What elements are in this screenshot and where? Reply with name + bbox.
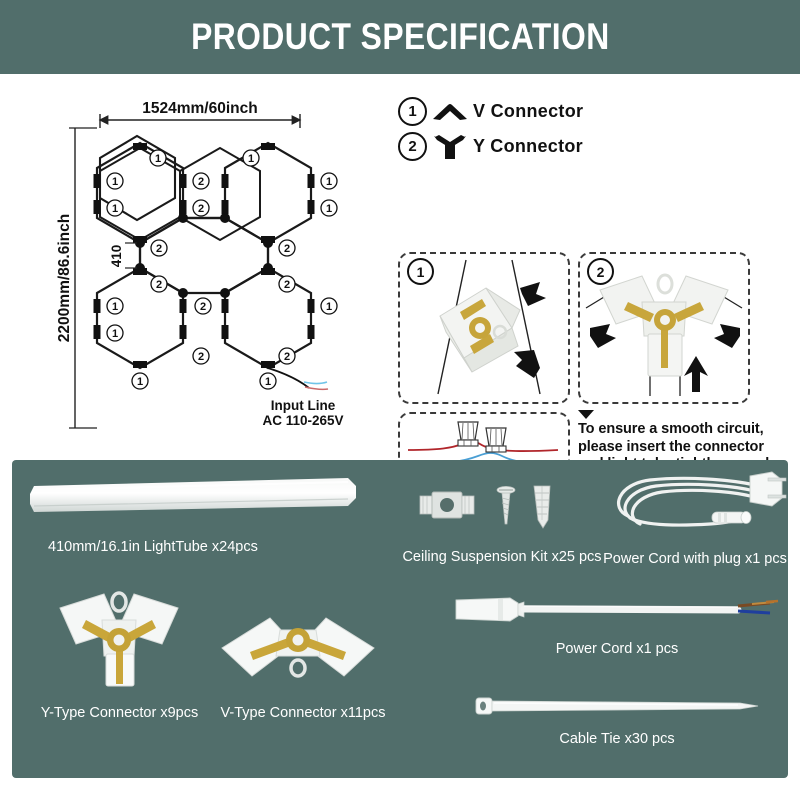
hexagon-layout-diagram: 1524mm/60inch 2200mm/86.6inch bbox=[55, 88, 385, 448]
page-title: PRODUCT SPECIFICATION bbox=[191, 16, 610, 58]
panel-number-1: 1 bbox=[407, 258, 434, 285]
svg-text:1: 1 bbox=[155, 153, 161, 165]
ceiling-suspension-kit-icon bbox=[402, 474, 602, 534]
svg-text:2: 2 bbox=[156, 243, 162, 255]
part-power-cord: Power Cord x1 pcs bbox=[452, 590, 782, 657]
caret-down-icon bbox=[578, 410, 594, 419]
segment-dimension: 410 bbox=[109, 243, 137, 268]
input-line-voltage: AC 110-265V bbox=[262, 413, 343, 428]
hexagon-diagram-svg: 1524mm/60inch 2200mm/86.6inch bbox=[55, 88, 385, 448]
svg-text:2: 2 bbox=[284, 243, 290, 255]
y-connector-icon bbox=[427, 134, 473, 160]
input-line-wire bbox=[268, 368, 328, 389]
svg-text:1: 1 bbox=[326, 176, 332, 188]
header-band: PRODUCT SPECIFICATION bbox=[0, 0, 800, 74]
specification-area: 1524mm/60inch 2200mm/86.6inch bbox=[0, 74, 800, 452]
v-type-connector-icon bbox=[208, 600, 398, 692]
y-connector-panel: 2 bbox=[578, 252, 750, 404]
svg-text:2: 2 bbox=[198, 203, 204, 215]
svg-text:2: 2 bbox=[198, 176, 204, 188]
svg-text:1: 1 bbox=[112, 203, 118, 215]
light-tube-icon bbox=[30, 474, 360, 518]
power-cord-icon bbox=[452, 590, 782, 630]
svg-text:2: 2 bbox=[156, 279, 162, 291]
part-light-tube: 410mm/16.1in LightTube x24pcs bbox=[30, 474, 360, 555]
legend-number-1: 1 bbox=[398, 97, 427, 126]
svg-text:1: 1 bbox=[112, 328, 118, 340]
power-cord-with-plug-icon bbox=[600, 468, 790, 540]
v-connector-panel: 1 bbox=[398, 252, 570, 404]
v-connector-icon bbox=[427, 101, 473, 123]
segment-length-label: 410 bbox=[109, 245, 124, 268]
part-label-v-type-connector: V-Type Connector x11pcs bbox=[208, 705, 398, 721]
part-label-cable-tie: Cable Tie x30 pcs bbox=[452, 731, 782, 747]
part-y-type-connector: Y-Type Connector x9pcs bbox=[32, 582, 207, 721]
part-label-power-cord: Power Cord x1 pcs bbox=[452, 641, 782, 657]
svg-text:2: 2 bbox=[284, 351, 290, 363]
part-v-type-connector: V-Type Connector x11pcs bbox=[208, 600, 398, 721]
y-type-connector-icon bbox=[32, 582, 207, 692]
svg-text:1: 1 bbox=[326, 301, 332, 313]
part-label-ceiling-suspension-kit: Ceiling Suspension Kit x25 pcs bbox=[402, 549, 602, 565]
part-label-light-tube: 410mm/16.1in LightTube x24pcs bbox=[30, 539, 360, 555]
legend-label-v-connector: V Connector bbox=[473, 101, 583, 122]
svg-text:2: 2 bbox=[284, 279, 290, 291]
svg-text:1: 1 bbox=[248, 153, 254, 165]
svg-text:2: 2 bbox=[198, 351, 204, 363]
legend-label-y-connector: Y Connector bbox=[473, 136, 583, 157]
part-label-power-cord-with-plug: Power Cord with plug x1 pcs bbox=[600, 551, 790, 567]
legend-item-y-connector: 2 Y Connector bbox=[398, 129, 698, 164]
svg-text:1: 1 bbox=[112, 301, 118, 313]
width-dimension-label: 1524mm/60inch bbox=[142, 100, 257, 117]
legend-number-2: 2 bbox=[398, 132, 427, 161]
part-power-cord-with-plug: Power Cord with plug x1 pcs bbox=[600, 468, 790, 567]
legend-item-v-connector: 1 V Connector bbox=[398, 94, 698, 129]
parts-list-area: 410mm/16.1in LightTube x24pcs bbox=[12, 460, 788, 778]
part-cable-tie: Cable Tie x30 pcs bbox=[452, 692, 782, 747]
input-line-label: Input Line bbox=[271, 398, 336, 413]
connector-legend: 1 V Connector 2 Y Connector bbox=[398, 94, 698, 164]
part-ceiling-suspension-kit: Ceiling Suspension Kit x25 pcs bbox=[402, 474, 602, 565]
cable-tie-icon bbox=[452, 692, 782, 720]
panel-number-2: 2 bbox=[587, 258, 614, 285]
part-label-y-type-connector: Y-Type Connector x9pcs bbox=[32, 705, 207, 721]
svg-text:1: 1 bbox=[265, 376, 271, 388]
svg-text:1: 1 bbox=[137, 376, 143, 388]
svg-text:2: 2 bbox=[200, 301, 206, 313]
svg-text:1: 1 bbox=[112, 176, 118, 188]
height-dimension-label: 2200mm/86.6inch bbox=[56, 214, 73, 342]
svg-text:1: 1 bbox=[326, 203, 332, 215]
